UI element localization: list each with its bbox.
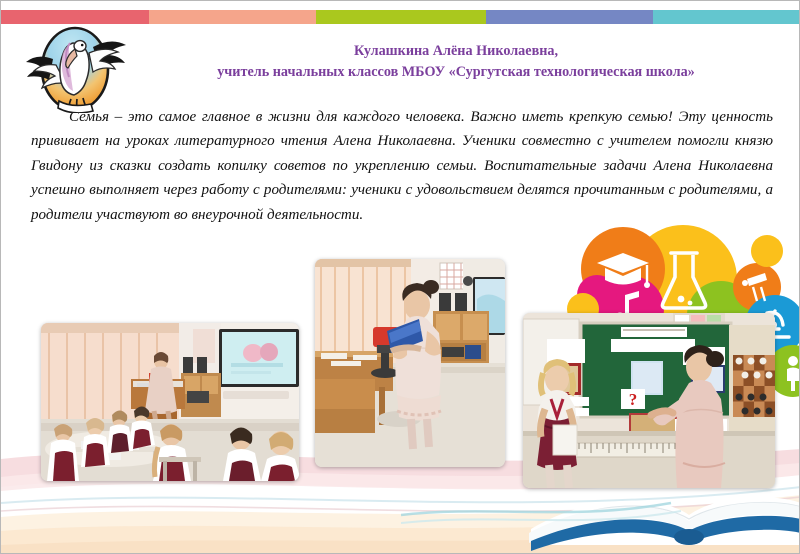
- svg-text:?: ?: [629, 390, 638, 409]
- colorbar-segment-red: [1, 10, 149, 24]
- circle-yellow-top: [751, 235, 783, 267]
- header-color-bar: [1, 10, 800, 24]
- colorbar-segment-lime: [316, 10, 486, 24]
- pelican-emblem-logo: [23, 25, 131, 113]
- slide-canvas: Кулашкина Алёна Николаевна, учитель нача…: [0, 0, 800, 554]
- title-line-1: Кулашкина Алёна Николаевна,: [151, 41, 761, 62]
- colorbar-segment-teal: [653, 10, 800, 24]
- photo-teacher-with-book: [315, 259, 505, 467]
- photo-board-presentation: ?: [523, 313, 775, 488]
- colorbar-segment-blue: [486, 10, 653, 24]
- photo-classroom-lesson: [41, 323, 299, 481]
- title-line-2: учитель начальных классов МБОУ «Сургутск…: [151, 62, 761, 83]
- body-paragraph: Семья – это самое главное в жизни для ка…: [31, 105, 773, 227]
- colorbar-segment-salmon: [149, 10, 316, 24]
- slide-title: Кулашкина Алёна Николаевна, учитель нача…: [151, 41, 761, 82]
